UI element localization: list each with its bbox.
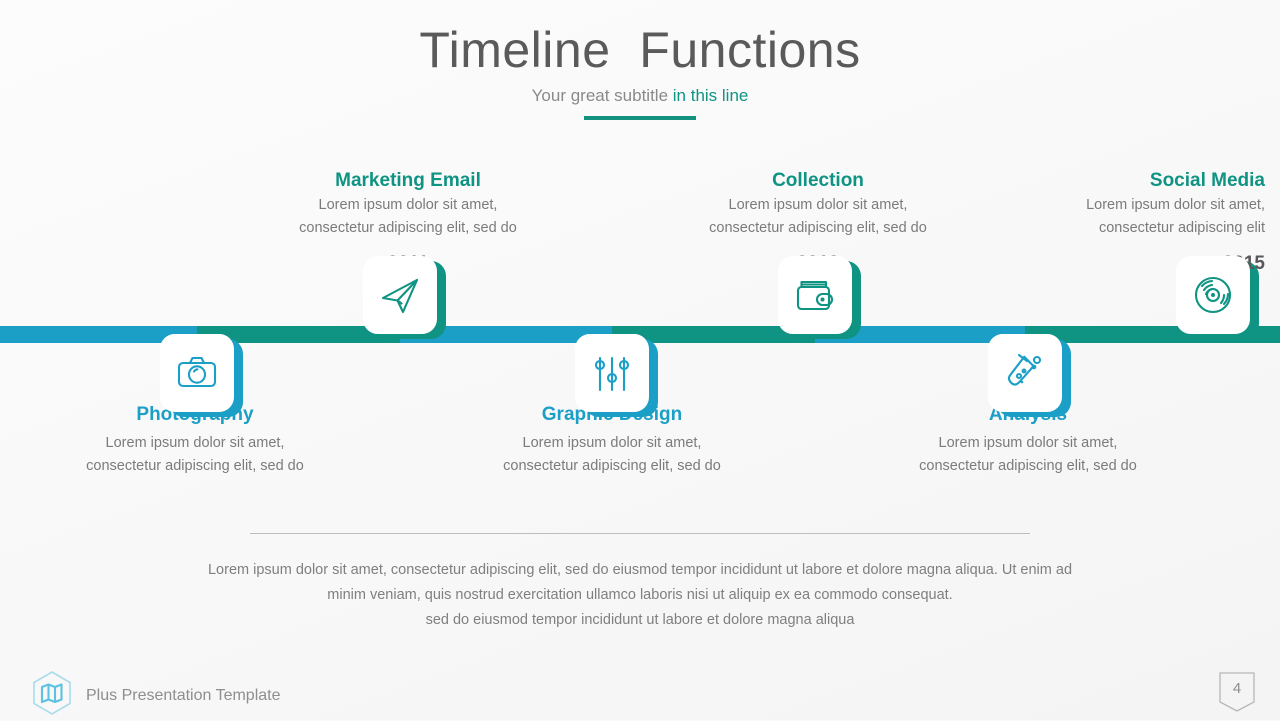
body-line-3: sed do eiusmod tempor incididunt ut labo… [110,608,1170,633]
body-paragraph: Lorem ipsum dolor sit amet, consectetur … [110,558,1170,633]
milestone-description: Lorem ipsum dolor sit amet, consectetur … [1080,194,1265,240]
milestone-label[interactable]: Collection [703,168,933,194]
content-divider [250,533,1030,534]
slide-header: Timeline Functions Your great subtitle i… [0,18,1280,120]
footer: Plus Presentation Template [29,670,280,721]
wallet-icon [793,273,837,317]
milestone-icon-tile[interactable] [575,334,649,412]
milestone-description: Lorem ipsum dolor sit amet, consectetur … [80,432,310,478]
milestone-description: Lorem ipsum dolor sit amet, consectetur … [913,432,1143,478]
page-number-badge: 4 [1219,672,1255,712]
disc-icon [1191,273,1235,317]
camera-icon [175,351,219,395]
sliders-icon [590,351,634,395]
milestone-icon-tile[interactable] [1176,256,1250,334]
flask-icon [1003,351,1047,395]
subtitle-plain-text: Your great subtitle [532,86,673,105]
milestone-icon-tile[interactable] [988,334,1062,412]
milestone-description: Lorem ipsum dolor sit amet, consectetur … [293,194,523,240]
milestone-description: Lorem ipsum dolor sit amet, consectetur … [497,432,727,478]
milestone-icon-tile[interactable] [363,256,437,334]
slide-canvas: Timeline Functions Your great subtitle i… [0,0,1280,720]
page-number-text: 4 [1219,672,1255,712]
footer-label: Plus Presentation Template [86,687,280,705]
map-hexagon-logo-icon [29,670,75,721]
milestone-icon-tile[interactable] [778,256,852,334]
milestone-label[interactable]: Social Media [1080,168,1265,194]
subtitle-accent-text: in this line [673,86,749,105]
milestone-icon-tile[interactable] [160,334,234,412]
subtitle-underline [584,116,696,120]
page-subtitle: Your great subtitle in this line [0,85,1280,107]
body-line-2: minim veniam, quis nostrud exercitation … [110,583,1170,608]
milestone-description: Lorem ipsum dolor sit amet, consectetur … [703,194,933,240]
milestone-label[interactable]: Marketing Email [293,168,523,194]
body-line-1: Lorem ipsum dolor sit amet, consectetur … [110,558,1170,583]
paper-plane-icon [378,273,422,317]
page-title: Timeline Functions [0,18,1280,82]
